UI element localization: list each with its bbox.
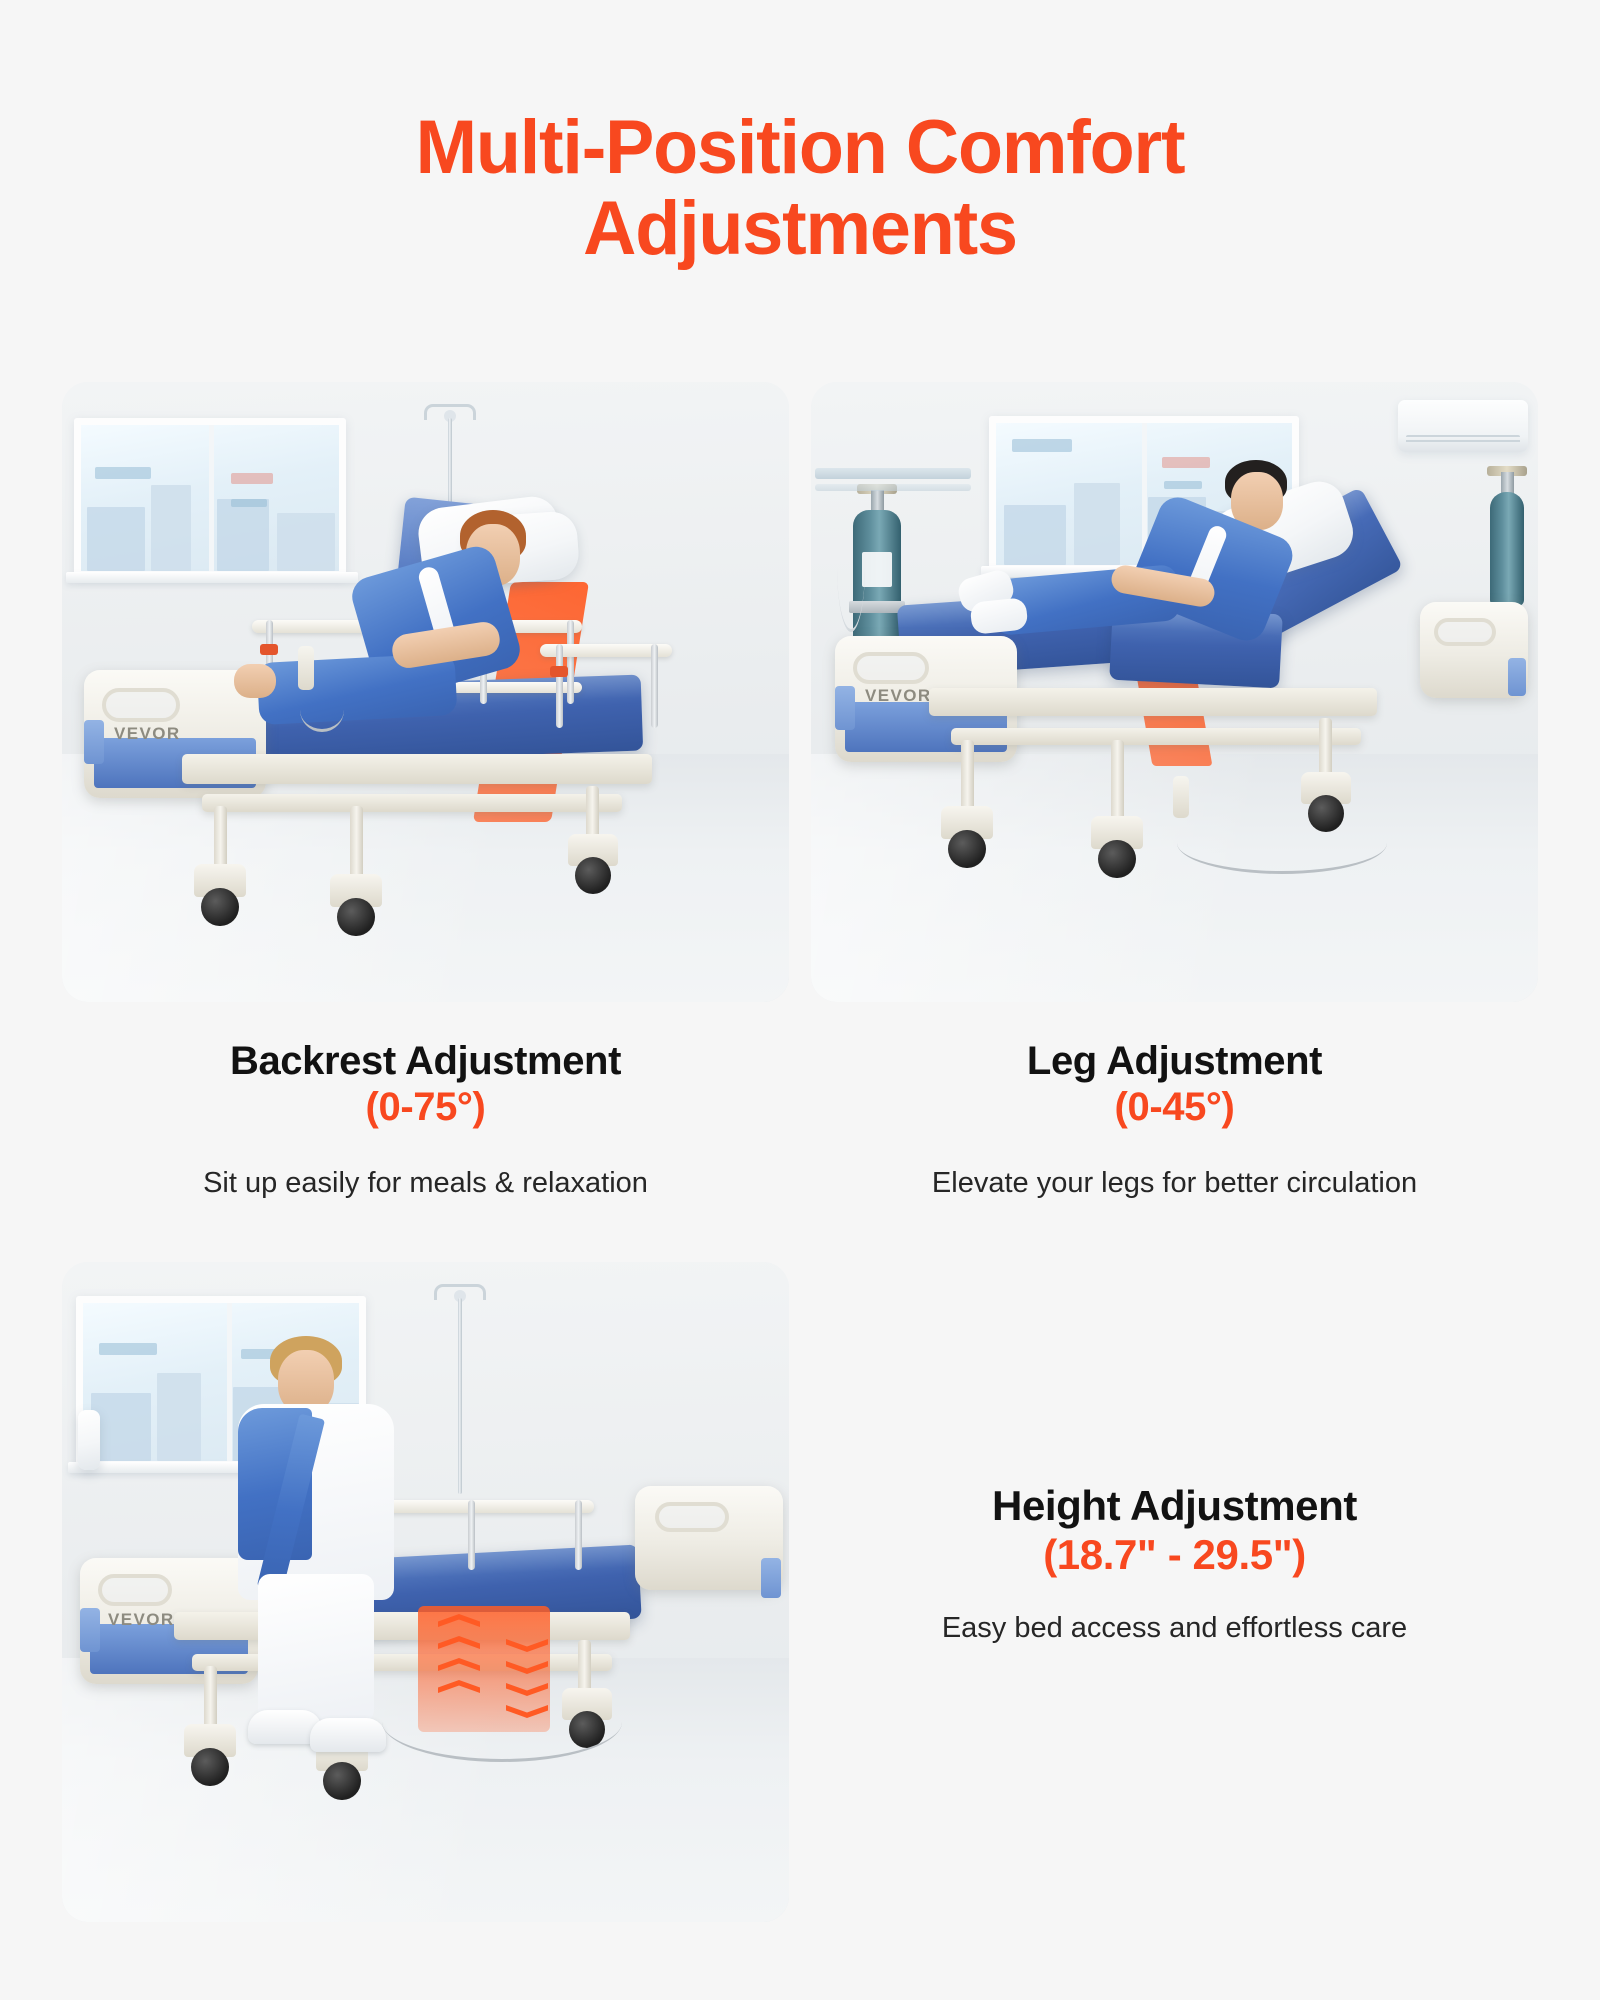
feature-range: (0-45°) — [811, 1084, 1538, 1130]
feature-description: Easy bed access and effortless care — [942, 1580, 1407, 1648]
feature-caption-backrest: Backrest Adjustment (0-75°) Sit up easil… — [62, 1002, 789, 1202]
page-title-line-2: Adjustments — [24, 189, 1576, 270]
feature-card-height: VEVOR — [62, 1262, 789, 1922]
feature-caption-leg: Leg Adjustment (0-45°) Elevate your legs… — [811, 1002, 1538, 1202]
feature-image-height: VEVOR — [62, 1262, 789, 1922]
bed-remote-control — [298, 646, 314, 690]
remote-cord — [300, 688, 344, 732]
patient-figure — [62, 1262, 789, 1922]
feature-description: Sit up easily for meals & relaxation — [62, 1131, 789, 1203]
feature-title: Leg Adjustment — [811, 1038, 1538, 1084]
patient-figure — [811, 382, 1538, 1002]
remote-cord — [382, 1682, 622, 1762]
feature-image-backrest: VEVOR — [62, 382, 789, 1002]
patient-legs — [258, 1574, 374, 1722]
feature-card-backrest: VEVOR — [62, 382, 789, 1202]
feature-title: Height Adjustment — [992, 1482, 1357, 1531]
feature-card-leg: VEVOR — [811, 382, 1538, 1202]
feature-range: (0-75°) — [62, 1084, 789, 1130]
page-title-line-1: Multi-Position Comfort — [24, 108, 1576, 189]
feature-description: Elevate your legs for better circulation — [811, 1131, 1538, 1203]
patient-foot — [234, 664, 276, 698]
feature-title: Backrest Adjustment — [62, 1038, 789, 1084]
feature-range: (18.7" - 29.5") — [1043, 1531, 1306, 1580]
remote-cord — [1177, 812, 1387, 874]
feature-caption-height: Height Adjustment (18.7" - 29.5") Easy b… — [811, 1262, 1538, 1922]
feature-grid-bottom: VEVOR — [0, 1262, 1600, 1922]
page-title: Multi-Position Comfort Adjustments — [0, 0, 1600, 269]
feature-image-leg: VEVOR — [811, 382, 1538, 1002]
bed-remote-control — [1173, 776, 1189, 818]
patient-slipper-right — [310, 1718, 386, 1752]
patient-figure — [62, 382, 789, 1002]
feature-grid-top: VEVOR — [0, 382, 1600, 1202]
